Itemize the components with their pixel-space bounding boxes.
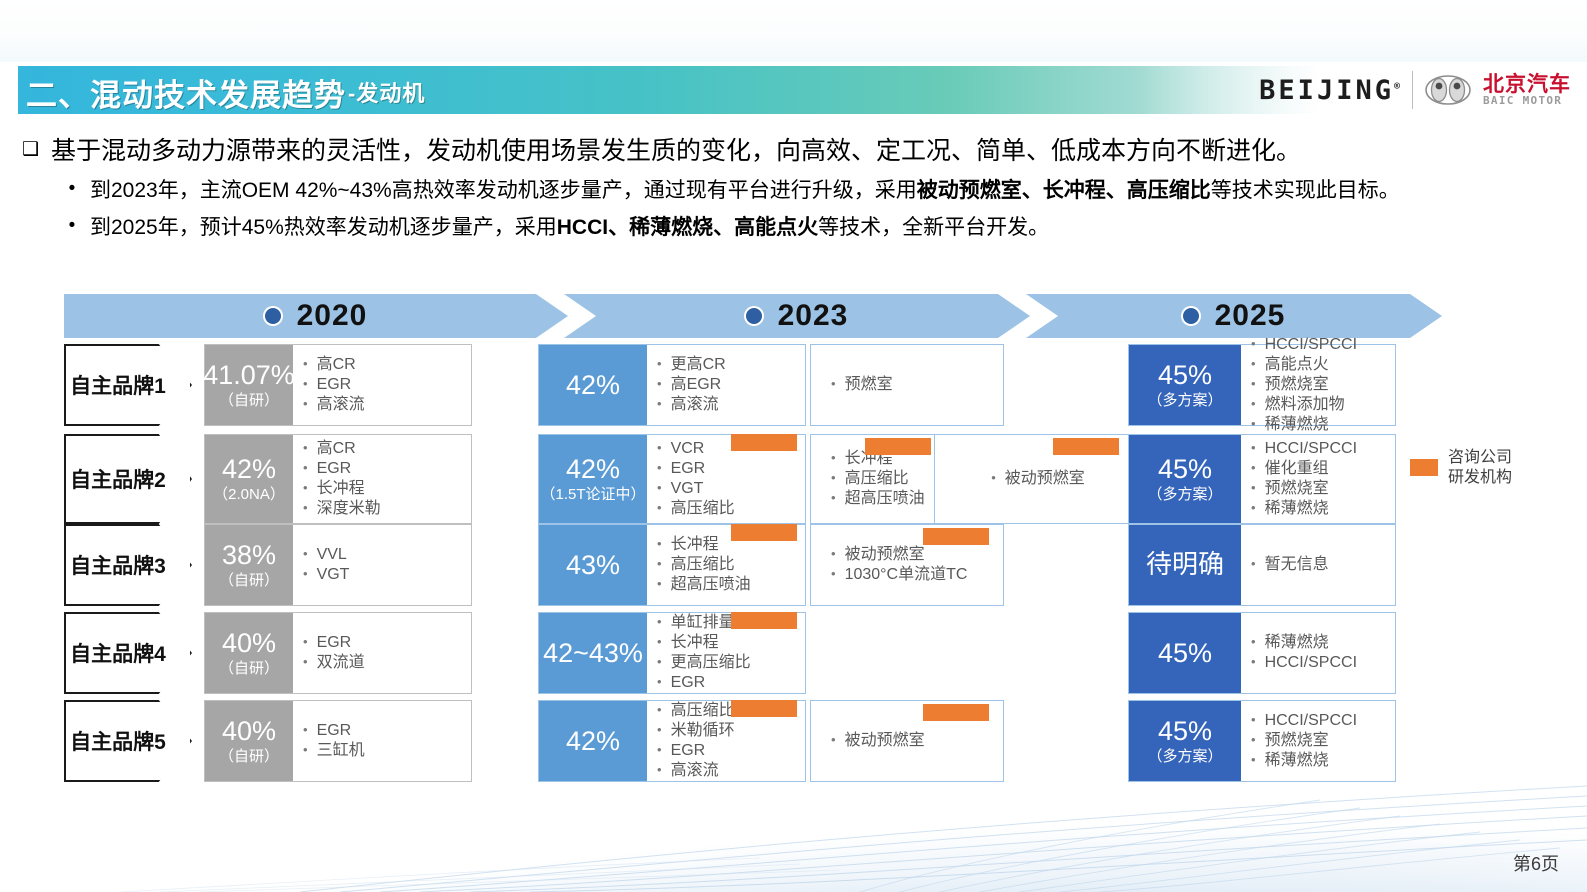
consultancy-marker-icon (731, 700, 797, 717)
efficiency-value-main: 待明确 (1146, 551, 1224, 579)
tech-item: •EGR (303, 459, 465, 479)
tech-item-label: 高滚流 (317, 395, 465, 415)
bullet-dot-icon: • (657, 741, 662, 760)
efficiency-value: 45%（多方案） (1129, 701, 1241, 781)
efficiency-value: 40%（自研） (205, 701, 293, 781)
tech-item: •预燃烧室 (1251, 479, 1389, 499)
tech-item: •被动预燃室 (991, 469, 1085, 489)
tech-item-label: 预燃烧室 (1265, 479, 1389, 499)
tech-item: •高CR (303, 439, 465, 459)
tech-item: •HCCI/SPCCI (1251, 335, 1389, 355)
matrix-row: 自主品牌141.07%（自研）•高CR•EGR•高滚流42%•更高CR•高EGR… (64, 344, 1564, 426)
bullet-dot-icon: • (1251, 499, 1256, 518)
tech-item: •被动预燃室 (831, 731, 991, 751)
bullet-dot-icon: • (657, 701, 662, 720)
efficiency-value-note: （2.0NA） (213, 487, 285, 503)
efficiency-value: 45%（多方案） (1129, 435, 1241, 523)
tech-item-label: 超高压喷油 (845, 489, 933, 509)
dot-bullet-icon: • (64, 214, 80, 239)
brand-logo-group: BEIJING® 北京汽车 BAIC MOTOR (1259, 62, 1571, 118)
tech-item: •燃料添加物 (1251, 395, 1389, 415)
bullet-dot-icon: • (1251, 335, 1256, 354)
efficiency-value-main: 42% (566, 371, 620, 400)
legend-text: 咨询公司 研发机构 (1448, 448, 1512, 487)
brand-tag[interactable]: 自主品牌1 (64, 344, 192, 426)
tech-item: •高压缩比 (657, 555, 799, 575)
tech-item: •米勒循环 (657, 721, 799, 741)
tech-item: •稀薄燃烧 (1251, 633, 1389, 653)
tech-item-list: •被动预燃室 (945, 439, 1127, 519)
tech-item-label: 被动预燃室 (845, 545, 991, 565)
tech-item-label: 稀薄燃烧 (1265, 751, 1389, 771)
tech-item: •催化重组 (1251, 459, 1389, 479)
matrix-cell-group[interactable]: 38%（自研）•VVL•VGT (204, 524, 472, 606)
timeline-segment-2023: 2023 (564, 294, 1030, 338)
tech-item-list: •长冲程•高压缩比•超高压喷油 (821, 439, 939, 519)
plain-text: 等技术，全新平台开发。 (818, 216, 1049, 239)
tech-item-label: 高滚流 (671, 395, 799, 415)
bullet-dot-icon: • (303, 653, 308, 672)
efficiency-value-note: （自研） (219, 749, 279, 765)
bullet-dot-icon: • (303, 459, 308, 478)
tech-item: •超高压喷油 (831, 489, 933, 509)
tech-item-list: •被动预燃室 (821, 705, 997, 777)
tech-item: •预燃烧室 (1251, 731, 1389, 751)
emphasis-text: HCCI、稀薄燃烧、高能点火 (557, 216, 818, 239)
efficiency-value-note: （自研） (219, 393, 279, 409)
timeline-year-label: 2020 (297, 299, 368, 333)
tech-item-label: 稀薄燃烧 (1265, 499, 1389, 519)
bullet-dot-icon: • (657, 479, 662, 498)
efficiency-value-note: （多方案） (1147, 487, 1222, 503)
page-title: 二、混动技术发展趋势-发动机 (26, 68, 425, 116)
technology-matrix: 自主品牌141.07%（自研）•高CR•EGR•高滚流42%•更高CR•高EGR… (64, 338, 1564, 792)
tech-item-label: 更高CR (671, 355, 799, 375)
tech-item-list: •单缸排量优化•长冲程•更高压缩比•EGR (647, 613, 805, 693)
tech-item: •VGT (657, 479, 799, 499)
timeline-year-label: 2025 (1215, 299, 1286, 333)
tech-item-label: EGR (317, 633, 465, 653)
bullet-level2-item: • 到2025年，预计45%热效率发动机逐步量产，采用HCCI、稀薄燃烧、高能点… (64, 214, 1562, 241)
tech-item-list: •HCCI/SPCCI•催化重组•预燃烧室•稀薄燃烧 (1241, 435, 1395, 523)
tech-item-list: •预燃室 (821, 349, 997, 421)
efficiency-value-note: （多方案） (1147, 393, 1222, 409)
bullet-dot-icon: • (303, 439, 308, 458)
tech-item-label: 三缸机 (317, 741, 465, 761)
matrix-row: 自主品牌242%（2.0NA）•高CR•EGR•长冲程•深度米勒42%（1.5T… (64, 434, 1564, 524)
tech-item: •高滚流 (657, 761, 799, 781)
tech-item-label: 燃料添加物 (1265, 395, 1389, 415)
matrix-row: 自主品牌440%（自研）•EGR•双流道42~43%•单缸排量优化•长冲程•更高… (64, 612, 1564, 694)
bullet-dot-icon: • (1251, 711, 1256, 730)
tech-item-label: 双流道 (317, 653, 465, 673)
consultancy-marker-icon (865, 438, 931, 455)
efficiency-value-main: 40% (222, 629, 276, 658)
bullet-dot-icon: • (303, 633, 308, 652)
tech-item-list: •EGR•双流道 (293, 613, 471, 693)
brand-tag-label: 自主品牌3 (66, 526, 170, 604)
bullet-dot-icon: • (1251, 355, 1256, 374)
bullet-dot-icon: • (831, 449, 836, 468)
tech-item-label: 高压缩比 (671, 555, 799, 575)
brand-divider (1412, 71, 1413, 109)
tech-item: •1030°C单流道TC (831, 565, 991, 585)
brand-tag[interactable]: 自主品牌4 (64, 612, 192, 694)
tech-item-list: •高压缩比•米勒循环•EGR•高滚流 (647, 701, 805, 781)
tech-item: •更高CR (657, 355, 799, 375)
bullet-dot-icon: • (831, 545, 836, 564)
tech-item-label: 暂无信息 (1265, 555, 1389, 575)
tech-item-label: EGR (671, 741, 799, 761)
matrix-cell-group[interactable]: 41.07%（自研）•高CR•EGR•高滚流 (204, 344, 472, 426)
efficiency-value-main: 40% (222, 717, 276, 746)
bullet-level1: ❑ 基于混动多动力源带来的灵活性，发动机使用场景发生质的变化，向高效、定工况、简… (22, 136, 1562, 167)
bullet-dot-icon: • (303, 741, 308, 760)
matrix-cell-extra[interactable]: •被动预燃室•1030°C单流道TC (810, 524, 1004, 606)
bullet-dot-icon: • (657, 633, 662, 652)
tech-item-label: 高压缩比 (845, 469, 933, 489)
tech-item-list: •暂无信息 (1241, 525, 1395, 605)
bullet-dot-icon: • (303, 395, 308, 414)
bullet-dot-icon: • (657, 575, 662, 594)
tech-item-label: 高CR (317, 439, 465, 459)
matrix-cell-group[interactable]: 42%•更高CR•高EGR•高滚流 (538, 344, 806, 426)
bullet-dot-icon: • (1251, 479, 1256, 498)
efficiency-value-main: 45% (1158, 361, 1212, 390)
consultancy-marker-icon (923, 528, 989, 545)
bullet-dot-icon: • (1251, 375, 1256, 394)
brand-tag-label: 自主品牌2 (66, 436, 170, 522)
tech-item-label: 高能点火 (1265, 355, 1389, 375)
bullet-list: ❑ 基于混动多动力源带来的灵活性，发动机使用场景发生质的变化，向高效、定工况、简… (22, 136, 1562, 241)
consultancy-marker-icon (1053, 438, 1119, 455)
tech-item-label: 高滚流 (671, 761, 799, 781)
bullet-dot-icon: • (303, 375, 308, 394)
tech-item-label: 1030°C单流道TC (845, 565, 991, 585)
bullet-dot-icon: • (303, 545, 308, 564)
tech-item-label: VGT (317, 565, 465, 585)
bullet-dot-icon: • (657, 439, 662, 458)
legend-swatch-orange-icon (1410, 459, 1438, 476)
tech-item-list: •高CR•EGR•高滚流 (293, 345, 471, 425)
brand-tag[interactable]: 自主品牌5 (64, 700, 192, 782)
tech-item-label: 高CR (317, 355, 465, 375)
bullet-dot-icon: • (657, 653, 662, 672)
tech-item: •高滚流 (657, 395, 799, 415)
bullet-dot-icon: • (657, 459, 662, 478)
tech-item-label: EGR (671, 673, 799, 693)
brand-tag-label: 自主品牌5 (66, 702, 170, 780)
baic-name-cn: 北京汽车 (1483, 74, 1571, 95)
tech-item-list: •VCR•EGR•VGT•高压缩比 (647, 435, 805, 523)
matrix-cell-group[interactable]: 43%•长冲程•高压缩比•超高压喷油 (538, 524, 806, 606)
efficiency-value-main: 42% (566, 455, 620, 484)
bullet-dot-icon: • (657, 499, 662, 518)
tech-item-label: 高压缩比 (671, 499, 799, 519)
bullet-dot-icon: • (1251, 555, 1256, 574)
timeline-segment-2025: 2025 (1026, 294, 1442, 338)
consultancy-marker-icon (731, 524, 797, 541)
matrix-cell-extra[interactable]: •长冲程•高压缩比•超高压喷油 (810, 434, 946, 524)
tech-item: •高EGR (657, 375, 799, 395)
bullet-dot-icon: • (1251, 459, 1256, 478)
legend-line-1: 咨询公司 (1448, 449, 1512, 466)
bullet-dot-icon: • (991, 469, 996, 488)
tech-item: •更高压缩比 (657, 653, 799, 673)
timeline-marker-dot-icon (1183, 308, 1199, 324)
matrix-cell-group[interactable]: 45%（多方案）•HCCI/SPCCI•预燃烧室•稀薄燃烧 (1128, 700, 1396, 782)
tech-item: •HCCI/SPCCI (1251, 653, 1389, 673)
beijing-wordmark: BEIJING® (1259, 75, 1400, 106)
tech-item-label: 更高压缩比 (671, 653, 799, 673)
plain-text: 等技术实现此目标。 (1211, 179, 1400, 202)
tech-item: •双流道 (303, 653, 465, 673)
bullet-dot-icon: • (831, 489, 836, 508)
matrix-cell-group[interactable]: 42%（1.5T论证中）•VCR•EGR•VGT•高压缩比 (538, 434, 806, 524)
efficiency-value-main: 43% (566, 551, 620, 580)
tech-item-label: 米勒循环 (671, 721, 799, 741)
efficiency-value: 42%（1.5T论证中） (539, 435, 647, 523)
tech-item-label: 高EGR (671, 375, 799, 395)
efficiency-value: 待明确 (1129, 525, 1241, 605)
efficiency-value-note: （多方案） (1147, 749, 1222, 765)
tech-item: •预燃烧室 (1251, 375, 1389, 395)
tech-item: •预燃室 (831, 375, 991, 395)
tech-item-label: VGT (671, 479, 799, 499)
bullet-dot-icon: • (303, 355, 308, 374)
efficiency-value-main: 42~43% (543, 639, 643, 668)
timeline-marker-dot-icon (746, 308, 762, 324)
bullet-dot-icon: • (657, 555, 662, 574)
timeline-marker-dot-icon (265, 308, 281, 324)
bullet-dot-icon: • (1251, 751, 1256, 770)
bullet-dot-icon: • (831, 375, 836, 394)
brand-tag-label: 自主品牌1 (66, 346, 170, 424)
plain-text: 到2023年，主流OEM 42%~43%高热效率发动机逐步量产，通过现有平台进行… (90, 179, 917, 202)
tech-item-label: EGR (671, 459, 799, 479)
matrix-cell-group[interactable]: 待明确•暂无信息 (1128, 524, 1396, 606)
tech-item-list: •稀薄燃烧•HCCI/SPCCI (1241, 613, 1395, 693)
efficiency-value: 41.07%（自研） (205, 345, 293, 425)
bullet-dot-icon: • (1251, 653, 1256, 672)
bullet-level2-text: 到2025年，预计45%热效率发动机逐步量产，采用HCCI、稀薄燃烧、高能点火等… (90, 214, 1049, 241)
bullet-dot-icon: • (1251, 731, 1256, 750)
tech-item-label: EGR (317, 375, 465, 395)
tech-item: •VVL (303, 545, 465, 565)
efficiency-value: 45%（多方案） (1129, 345, 1241, 425)
brand-tag[interactable]: 自主品牌2 (64, 434, 192, 524)
tech-item: •长冲程 (657, 633, 799, 653)
bullet-level1-text: 基于混动多动力源带来的灵活性，发动机使用场景发生质的变化，向高效、定工况、简单、… (51, 136, 1301, 167)
tech-item-label: 超高压喷油 (671, 575, 799, 595)
tech-item-list: •高CR•EGR•长冲程•深度米勒 (293, 435, 471, 523)
tech-item-label: 深度米勒 (317, 499, 465, 519)
tech-item: •高能点火 (1251, 355, 1389, 375)
brand-tag-label: 自主品牌4 (66, 614, 170, 692)
tech-item-label: 预燃烧室 (1265, 375, 1389, 395)
tech-item-label: 稀薄燃烧 (1265, 633, 1389, 653)
tech-item: •深度米勒 (303, 499, 465, 519)
page-number: 第6页 (1513, 850, 1559, 876)
tech-item-label: 预燃室 (845, 375, 991, 395)
matrix-cell-extra[interactable]: •被动预燃室 (810, 700, 1004, 782)
tech-item: •EGR (303, 375, 465, 395)
bullet-dot-icon: • (657, 395, 662, 414)
tech-item: •高CR (303, 355, 465, 375)
bullet-dot-icon: • (1251, 395, 1256, 414)
bullet-dot-icon: • (657, 673, 662, 692)
matrix-cell-group[interactable]: 40%（自研）•EGR•三缸机 (204, 700, 472, 782)
tech-item-label: 被动预燃室 (845, 731, 991, 751)
brand-tag[interactable]: 自主品牌3 (64, 524, 192, 606)
bullet-dot-icon: • (303, 721, 308, 740)
bullet-dot-icon: • (1251, 415, 1256, 434)
efficiency-value-main: 42% (222, 455, 276, 484)
page-title-sub: -发动机 (348, 76, 425, 108)
emphasis-text: 被动预燃室、长冲程、高压缩比 (917, 179, 1211, 202)
bullet-dot-icon: • (1251, 439, 1256, 458)
timeline-header: 2020 2023 2025 (64, 294, 1442, 338)
beijing-wordmark-text: BEIJING (1259, 75, 1394, 106)
tech-item-label: EGR (317, 721, 465, 741)
tech-item-label: HCCI/SPCCI (1265, 335, 1389, 355)
bullet-dot-icon: • (657, 355, 662, 374)
tech-item-label: 长冲程 (671, 633, 799, 653)
bullet-dot-icon: • (657, 613, 662, 632)
efficiency-value-main: 41.07% (203, 361, 295, 390)
matrix-cell-group[interactable]: 45%（多方案）•HCCI/SPCCI•催化重组•预燃烧室•稀薄燃烧 (1128, 434, 1396, 524)
efficiency-value: 42% (539, 701, 647, 781)
efficiency-value-main: 42% (566, 727, 620, 756)
bullet-dot-icon: • (831, 731, 836, 750)
matrix-cell-extra[interactable]: •被动预燃室 (934, 434, 1134, 524)
bullet-dot-icon: • (831, 469, 836, 488)
tech-item-list: •更高CR•高EGR•高滚流 (647, 345, 805, 425)
bullet-dot-icon: • (657, 535, 662, 554)
bullet-dot-icon: • (657, 761, 662, 780)
bullet-dot-icon: • (1251, 633, 1256, 652)
dot-bullet-icon: • (64, 177, 80, 202)
bullet-level2-item: • 到2023年，主流OEM 42%~43%高热效率发动机逐步量产，通过现有平台… (64, 177, 1562, 204)
tech-item: •高压缩比 (657, 499, 799, 519)
efficiency-value: 43% (539, 525, 647, 605)
page-title-main: 二、混动技术发展趋势 (26, 70, 346, 115)
tech-item: •HCCI/SPCCI (1251, 711, 1389, 731)
tech-item-label: 催化重组 (1265, 459, 1389, 479)
tech-item: •EGR (303, 721, 465, 741)
tech-item: •稀薄燃烧 (1251, 415, 1389, 435)
bullet-dot-icon: • (831, 565, 836, 584)
consultancy-marker-icon (923, 704, 989, 721)
timeline-year-label: 2023 (778, 299, 849, 333)
tech-item: •EGR (303, 633, 465, 653)
matrix-row: 自主品牌338%（自研）•VVL•VGT43%•长冲程•高压缩比•超高压喷油•被… (64, 524, 1564, 606)
tech-item-label: HCCI/SPCCI (1265, 653, 1389, 673)
bullet-dot-icon: • (657, 375, 662, 394)
baic-emblem-icon (1425, 75, 1471, 105)
tech-item-label: HCCI/SPCCI (1265, 439, 1389, 459)
efficiency-value-main: 45% (1158, 639, 1212, 668)
efficiency-value-main: 45% (1158, 717, 1212, 746)
slide-root: 二、混动技术发展趋势-发动机 BEIJING® 北京汽车 BAIC MOTOR … (0, 0, 1587, 892)
efficiency-value: 38%（自研） (205, 525, 293, 605)
background-top-sheen (0, 0, 1587, 62)
matrix-cell-group[interactable]: 42%（2.0NA）•高CR•EGR•长冲程•深度米勒 (204, 434, 472, 524)
baic-chinese-name: 北京汽车 BAIC MOTOR (1483, 74, 1571, 107)
bullet-dot-icon: • (303, 565, 308, 584)
tech-item-list: •被动预燃室•1030°C单流道TC (821, 529, 997, 601)
tech-item-label: EGR (317, 459, 465, 479)
tech-item-list: •HCCI/SPCCI•预燃烧室•稀薄燃烧 (1241, 701, 1395, 781)
tech-item-label: 长冲程 (317, 479, 465, 499)
tech-item-label: 被动预燃室 (1005, 469, 1085, 489)
tech-item: •稀薄燃烧 (1251, 499, 1389, 519)
legend: 咨询公司 研发机构 (1410, 448, 1512, 487)
tech-item-label: 预燃烧室 (1265, 731, 1389, 751)
tech-item-list: •长冲程•高压缩比•超高压喷油 (647, 525, 805, 605)
tech-item: •稀薄燃烧 (1251, 751, 1389, 771)
registered-mark-icon: ® (1394, 81, 1400, 92)
efficiency-value: 40%（自研） (205, 613, 293, 693)
matrix-cell-group[interactable]: 40%（自研）•EGR•双流道 (204, 612, 472, 694)
matrix-cell-group[interactable]: 42~43%•单缸排量优化•长冲程•更高压缩比•EGR (538, 612, 806, 694)
matrix-cell-extra[interactable]: •预燃室 (810, 344, 1004, 426)
matrix-cell-group[interactable]: 42%•高压缩比•米勒循环•EGR•高滚流 (538, 700, 806, 782)
tech-item: •高压缩比 (831, 469, 933, 489)
matrix-cell-group[interactable]: 45%（多方案）•HCCI/SPCCI•高能点火•预燃烧室•燃料添加物•稀薄燃烧 (1128, 344, 1396, 426)
tech-item: •长冲程 (303, 479, 465, 499)
tech-item: •EGR (657, 741, 799, 761)
efficiency-value-main: 45% (1158, 455, 1212, 484)
tech-item-label: HCCI/SPCCI (1265, 711, 1389, 731)
efficiency-value-note: （自研） (219, 661, 279, 677)
tech-item-list: •HCCI/SPCCI•高能点火•预燃烧室•燃料添加物•稀薄燃烧 (1241, 345, 1395, 425)
matrix-cell-group[interactable]: 45%•稀薄燃烧•HCCI/SPCCI (1128, 612, 1396, 694)
tech-item: •高滚流 (303, 395, 465, 415)
tech-item: •超高压喷油 (657, 575, 799, 595)
bullet-level2-text: 到2023年，主流OEM 42%~43%高热效率发动机逐步量产，通过现有平台进行… (90, 177, 1400, 204)
efficiency-value-note: （1.5T论证中） (540, 487, 645, 503)
efficiency-value-main: 38% (222, 541, 276, 570)
tech-item: •EGR (657, 459, 799, 479)
efficiency-value: 42~43% (539, 613, 647, 693)
consultancy-marker-icon (731, 434, 797, 451)
baic-name-en: BAIC MOTOR (1483, 95, 1571, 106)
tech-item-label: VVL (317, 545, 465, 565)
plain-text: 到2025年，预计45%热效率发动机逐步量产，采用 (90, 216, 557, 239)
consultancy-marker-icon (731, 612, 797, 629)
efficiency-value: 45% (1129, 613, 1241, 693)
tech-item: •VGT (303, 565, 465, 585)
tech-item: •三缸机 (303, 741, 465, 761)
legend-line-2: 研发机构 (1448, 469, 1512, 486)
tech-item: •暂无信息 (1251, 555, 1389, 575)
bullet-dot-icon: • (303, 479, 308, 498)
tech-item-label: 稀薄燃烧 (1265, 415, 1389, 435)
tech-item: •EGR (657, 673, 799, 693)
efficiency-value: 42% (539, 345, 647, 425)
tech-item-list: •EGR•三缸机 (293, 701, 471, 781)
bullet-dot-icon: • (303, 499, 308, 518)
bullet-dot-icon: • (657, 721, 662, 740)
tech-item: •HCCI/SPCCI (1251, 439, 1389, 459)
square-bullet-icon: ❑ (22, 136, 39, 164)
tech-item-list: •VVL•VGT (293, 525, 471, 605)
matrix-row: 自主品牌540%（自研）•EGR•三缸机42%•高压缩比•米勒循环•EGR•高滚… (64, 700, 1564, 782)
timeline-segment-2020: 2020 (64, 294, 568, 338)
efficiency-value-note: （自研） (219, 573, 279, 589)
tech-item: •被动预燃室 (831, 545, 991, 565)
